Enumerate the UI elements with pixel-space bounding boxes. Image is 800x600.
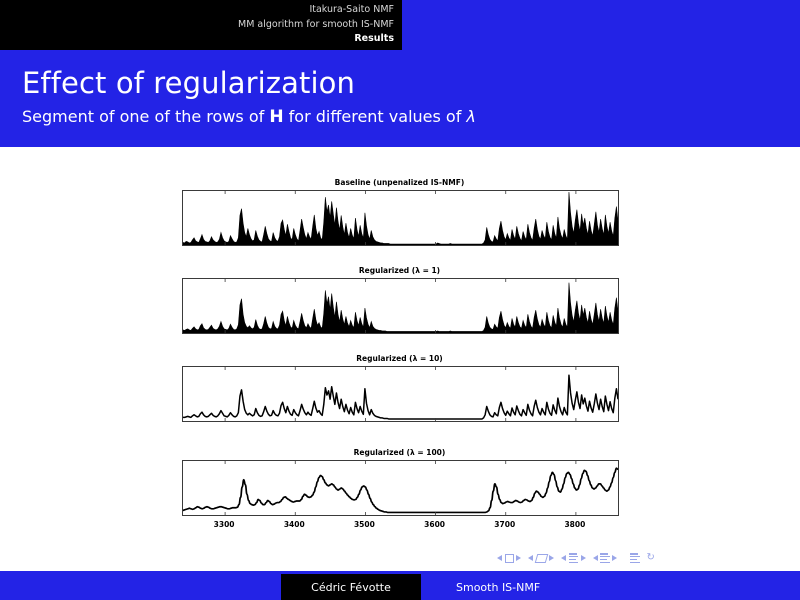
page-title: Effect of regularization <box>22 66 355 100</box>
slide: Itakura-Saito NMF MM algorithm for smoot… <box>0 0 800 600</box>
header-line-1[interactable]: Itakura-Saito NMF <box>0 3 394 18</box>
plot-area <box>182 190 619 246</box>
x-tick-label: 3500 <box>354 520 375 529</box>
footer-spacer <box>0 574 281 600</box>
beamer-navigation-symbols: ↻ <box>497 553 662 563</box>
nav-previous-section-icon[interactable] <box>593 553 618 563</box>
footer-talk-title: Smooth IS-NMF <box>421 574 800 600</box>
page-subtitle: Segment of one of the rows of H for diff… <box>22 107 476 127</box>
footer-bar: Cédric Févotte Smooth IS-NMF <box>0 574 800 600</box>
x-axis-tick-labels: 330034003500360037003800 <box>182 517 617 533</box>
footer-author: Cédric Févotte <box>281 574 421 600</box>
x-tick-label: 3400 <box>284 520 305 529</box>
x-tick-label: 3600 <box>424 520 445 529</box>
panel-title: Regularized (λ = 1) <box>182 266 617 275</box>
subtitle-pre: Segment of one of the rows of <box>22 107 269 126</box>
header-line-2[interactable]: MM algorithm for smooth IS-NMF <box>0 18 394 33</box>
plot-area <box>182 460 619 516</box>
x-tick-label: 3800 <box>564 520 585 529</box>
nav-previous-frame-icon[interactable] <box>528 554 554 563</box>
nav-first-frame-icon[interactable] <box>497 554 521 563</box>
subtitle-matrix-h: H <box>269 107 283 127</box>
slide-body: Baseline (unpenalized IS-NMF)Regularized… <box>0 147 800 571</box>
plot-area <box>182 278 619 334</box>
x-tick-label: 3700 <box>494 520 515 529</box>
nav-previous-subsection-icon[interactable] <box>561 553 586 563</box>
x-tick-label: 3300 <box>214 520 235 529</box>
nav-back-to-start-icon[interactable] <box>630 553 640 563</box>
panel-title: Regularized (λ = 10) <box>182 354 617 363</box>
subtitle-mid: for different values of <box>284 107 467 126</box>
plot-area <box>182 366 619 422</box>
subtitle-lambda: λ <box>466 107 475 126</box>
title-block: Effect of regularization Segment of one … <box>0 50 800 147</box>
panel-title: Baseline (unpenalized IS-NMF) <box>182 178 617 187</box>
nav-search-icon[interactable]: ↻ <box>647 553 655 563</box>
panel-title: Regularized (λ = 100) <box>182 448 617 457</box>
header-line-3-active[interactable]: Results <box>0 32 394 47</box>
figure-regularization-panels: Baseline (unpenalized IS-NMF)Regularized… <box>0 147 800 571</box>
header-bar: Itakura-Saito NMF MM algorithm for smoot… <box>0 0 402 50</box>
